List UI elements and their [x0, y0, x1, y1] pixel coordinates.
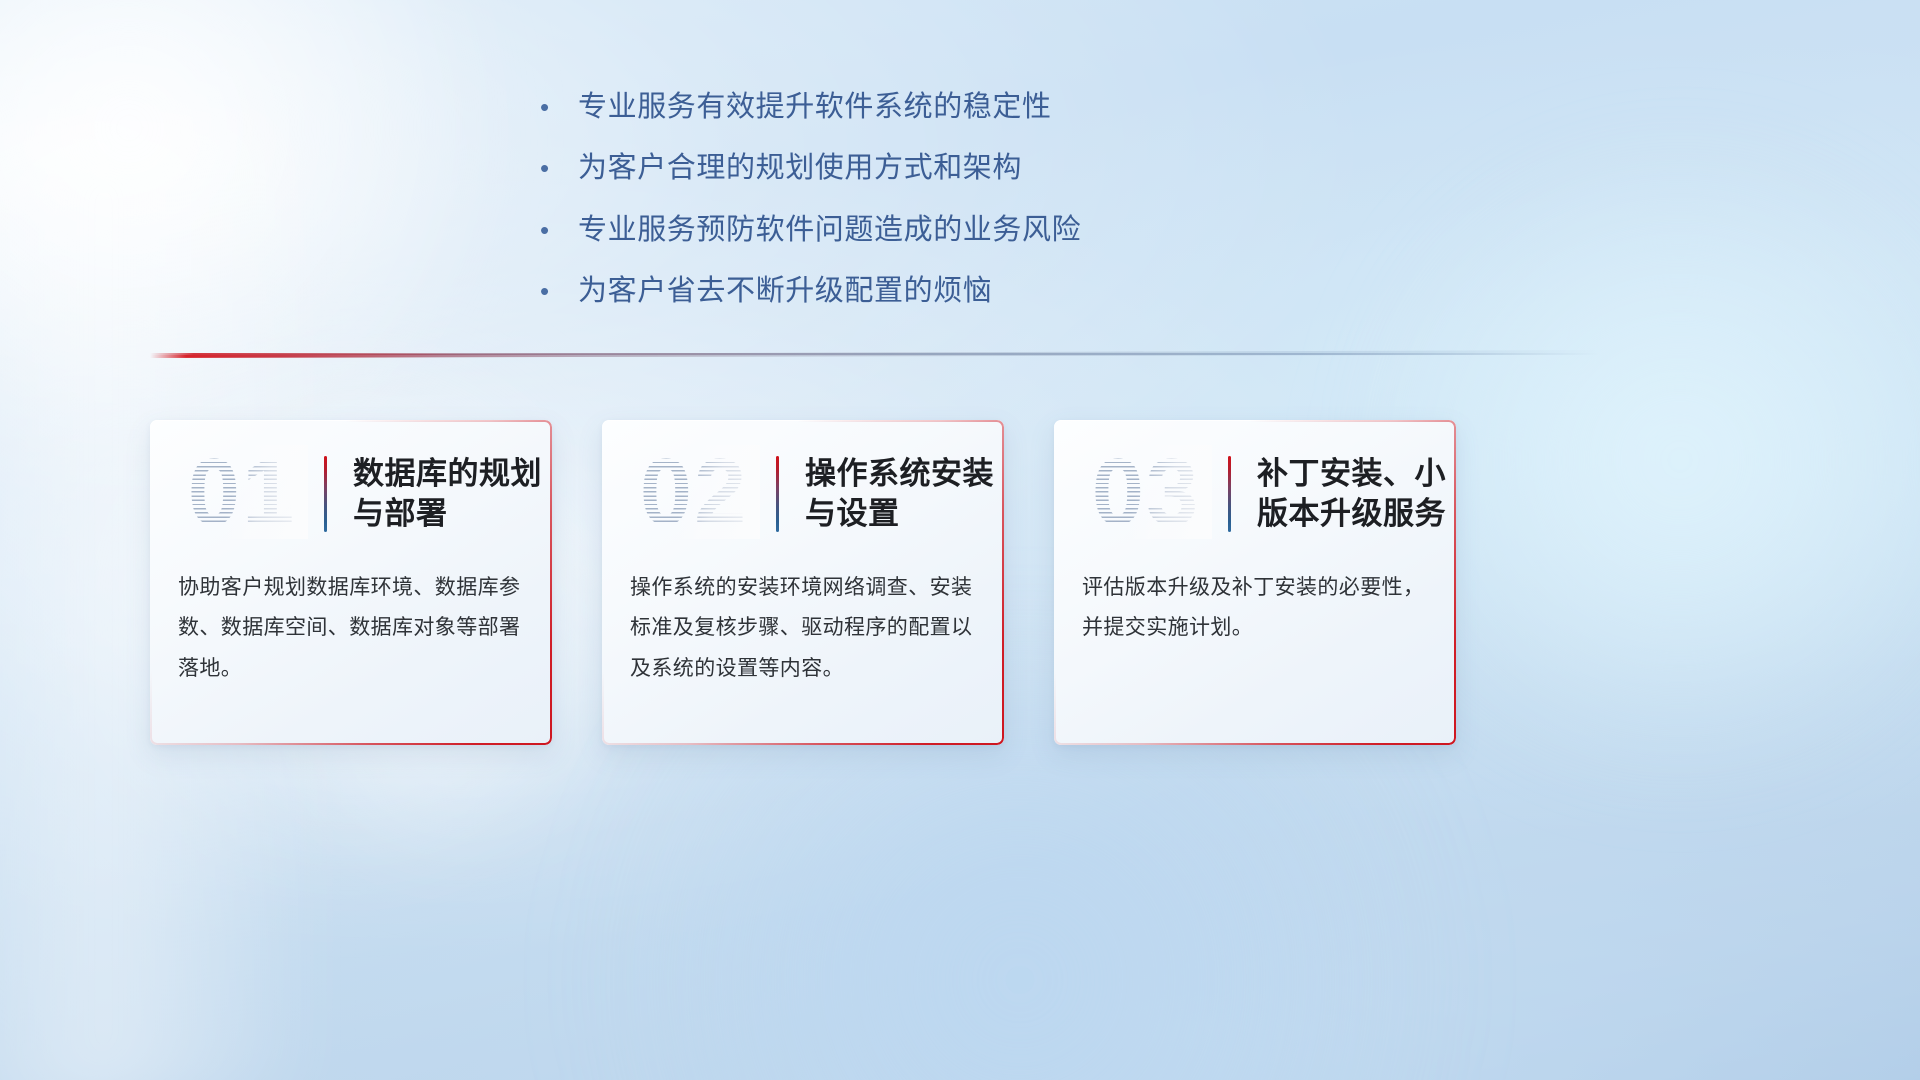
bullet-dot-icon: •: [540, 217, 578, 243]
card-number: 01: [176, 445, 308, 539]
card-description: 操作系统的安装环境网络调查、安装标准及复核步骤、驱动程序的配置以及系统的设置等内…: [602, 568, 1004, 689]
list-item: • 为客户省去不断升级配置的烦恼: [540, 272, 1320, 310]
bullet-text: 专业服务有效提升软件系统的稳定性: [578, 88, 1052, 126]
card-description: 评估版本升级及补丁安装的必要性，并提交实施计划。: [1054, 568, 1456, 649]
list-item: • 专业服务预防软件问题造成的业务风险: [540, 211, 1320, 249]
bullet-dot-icon: •: [540, 155, 578, 181]
list-item: • 专业服务有效提升软件系统的稳定性: [540, 88, 1320, 126]
bullet-dot-icon: •: [540, 278, 578, 304]
bullet-text: 为客户合理的规划使用方式和架构: [578, 149, 1022, 187]
service-card-group: 01 数据库的规划与部署 协助客户规划数据库环境、数据库参数、数据库空间、数据库…: [150, 420, 1456, 745]
card-number: 03: [1080, 445, 1212, 539]
divider-hairline: [150, 353, 1600, 355]
card-header: 03 补丁安装、小版本升级服务: [1054, 420, 1456, 568]
bullet-text: 专业服务预防软件问题造成的业务风险: [578, 211, 1081, 249]
card-number: 02: [628, 445, 760, 539]
bullet-text: 为客户省去不断升级配置的烦恼: [578, 272, 992, 310]
service-card-01[interactable]: 01 数据库的规划与部署 协助客户规划数据库环境、数据库参数、数据库空间、数据库…: [150, 420, 552, 745]
card-header: 02 操作系统安装与设置: [602, 420, 1004, 568]
service-card-02[interactable]: 02 操作系统安装与设置 操作系统的安装环境网络调查、安装标准及复核步骤、驱动程…: [602, 420, 1004, 745]
divider-gradient-bar: [150, 350, 1600, 358]
list-item: • 为客户合理的规划使用方式和架构: [540, 149, 1320, 187]
card-title: 操作系统安装与设置: [805, 454, 1004, 535]
card-title: 补丁安装、小版本升级服务: [1257, 454, 1456, 535]
card-description: 协助客户规划数据库环境、数据库参数、数据库空间、数据库对象等部署落地。: [150, 568, 552, 689]
card-accent-divider: [776, 456, 779, 532]
section-divider: [150, 350, 1600, 362]
card-title: 数据库的规划与部署: [353, 454, 552, 535]
card-accent-divider: [324, 456, 327, 532]
slide-canvas: • 专业服务有效提升软件系统的稳定性 • 为客户合理的规划使用方式和架构 • 专…: [0, 0, 1920, 1080]
benefits-bullet-list: • 专业服务有效提升软件系统的稳定性 • 为客户合理的规划使用方式和架构 • 专…: [540, 88, 1320, 333]
bullet-dot-icon: •: [540, 94, 578, 120]
card-accent-divider: [1228, 456, 1231, 532]
service-card-03[interactable]: 03 补丁安装、小版本升级服务 评估版本升级及补丁安装的必要性，并提交实施计划。: [1054, 420, 1456, 745]
card-header: 01 数据库的规划与部署: [150, 420, 552, 568]
